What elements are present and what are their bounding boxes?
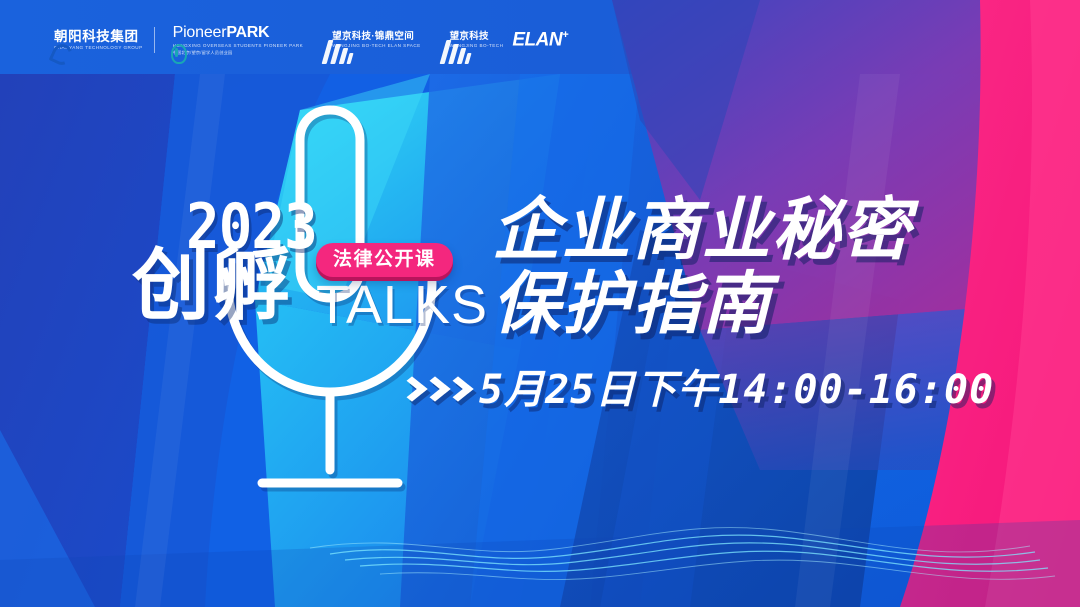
chevron-right-icon bbox=[402, 377, 419, 403]
brand-cn-title: 创孵 bbox=[132, 246, 292, 324]
chevron-right-icon bbox=[425, 377, 442, 403]
logo-pioneerpark[interactable]: PioneerPARK Hongxing Overseas Students P… bbox=[155, 22, 315, 58]
logo-wangjing-cn: 望京科技 bbox=[450, 32, 504, 42]
event-poster: 朝阳科技集团 CHAOYANG TECHNOLOGY GROUP Pioneer… bbox=[0, 0, 1080, 607]
logo-pioneerpark-bold: PARK bbox=[226, 24, 269, 41]
logo-wangjing-elan[interactable]: 望京科技 WANGJING BO-TECH ELAN+ bbox=[432, 22, 579, 58]
logo-elan-wordmark: ELAN+ bbox=[512, 29, 568, 51]
logo-wangjing-elan-space[interactable]: 望京科技·锦鼎空间 WANGJING BO-TECH ELAN SPACE bbox=[314, 22, 431, 58]
headline-line-2: 保护指南 bbox=[492, 270, 912, 338]
logo-pioneerpark-en: Hongxing Overseas Students Pioneer Park bbox=[173, 44, 304, 49]
logo-pioneerpark-cn-sub: 中国北京/望京/留学人员创业园 bbox=[173, 51, 304, 55]
logo-elan-plus: + bbox=[562, 29, 568, 41]
chevron-right-icon bbox=[448, 377, 465, 403]
logo-elan-text: ELAN bbox=[512, 29, 562, 50]
logo-chaoyang-cn: 朝阳科技集团 bbox=[54, 30, 143, 44]
logo-chaoyang[interactable]: 朝阳科技集团 CHAOYANG TECHNOLOGY GROUP bbox=[36, 22, 154, 58]
chevron-group bbox=[402, 377, 465, 403]
logo-pioneerpark-wordmark: PioneerPARK bbox=[173, 25, 304, 41]
brand-en-title: TALKS bbox=[316, 278, 488, 332]
headline-line-1: 企业商业秘密 bbox=[492, 192, 912, 268]
logo-pioneerpark-light: Pioneer bbox=[173, 24, 227, 41]
course-type-badge: 法律公开课 bbox=[316, 243, 453, 277]
event-datetime: 5月25日下午14:00-16:00 bbox=[402, 370, 994, 410]
headline: 企业商业秘密 保护指南 bbox=[492, 196, 912, 338]
partner-logo-bar: 朝阳科技集团 CHAOYANG TECHNOLOGY GROUP Pioneer… bbox=[36, 22, 579, 58]
event-datetime-text: 5月25日下午14:00-16:00 bbox=[479, 370, 994, 410]
logo-wangjing-elan-space-cn: 望京科技·锦鼎空间 bbox=[332, 32, 420, 42]
